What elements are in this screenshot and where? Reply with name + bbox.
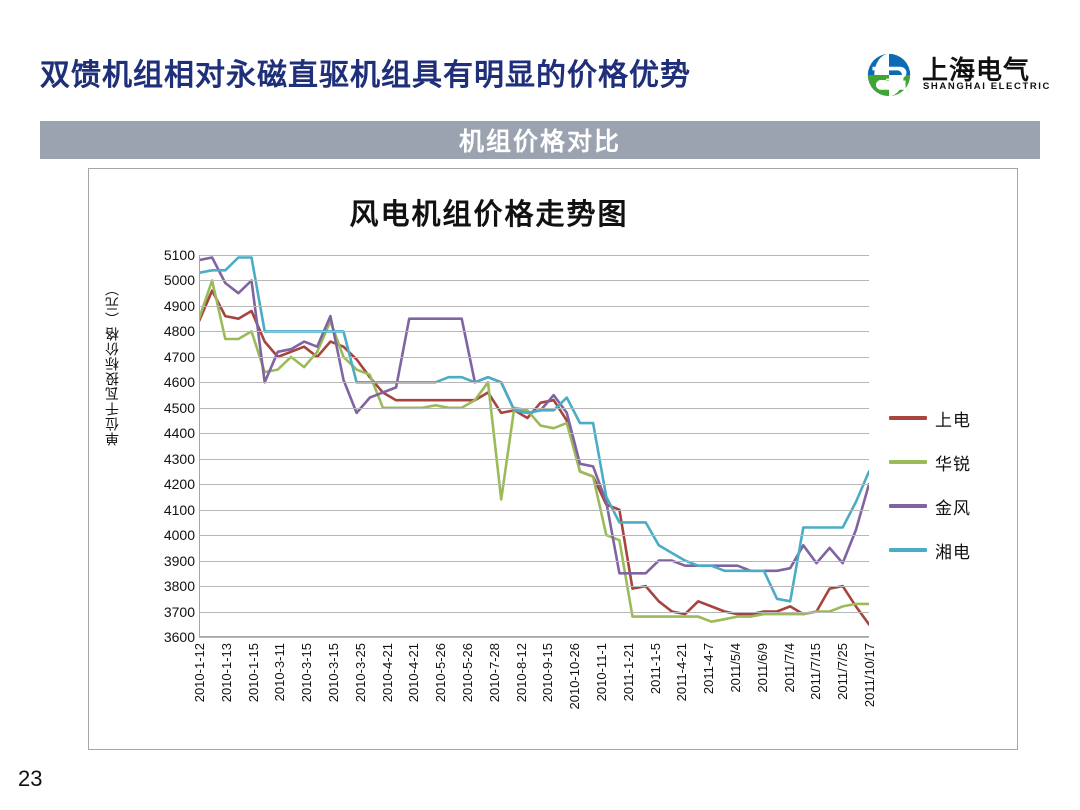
y-tick-label: 4900 (139, 299, 195, 313)
y-tick-label: 5000 (139, 273, 195, 287)
plot-area (199, 255, 869, 637)
chart-legend: 上电华锐金风湘电 (889, 407, 1007, 577)
logo-text-english: SHANGHAI ELECTRIC (923, 81, 1051, 92)
x-tick-label: 2010-11-1 (594, 643, 609, 701)
y-tick-label: 4100 (139, 503, 195, 517)
x-tick-label: 2010-4-21 (380, 643, 395, 702)
y-tick-label: 4700 (139, 350, 195, 364)
x-tick-label: 2011/7/4 (782, 643, 797, 693)
x-tick-label: 2011/7/25 (835, 643, 850, 700)
gridline (199, 637, 869, 638)
x-tick-label: 2010-8-12 (514, 643, 529, 702)
legend-swatch-icon (889, 416, 927, 420)
x-tick-label: 2010-3-25 (353, 643, 368, 702)
legend-swatch-icon (889, 504, 927, 508)
legend-item-label: 华锐 (935, 450, 971, 475)
x-tick-label: 2010-10-26 (567, 643, 582, 710)
x-tick-label: 2011-1-21 (621, 643, 636, 701)
legend-item[interactable]: 华锐 (889, 451, 1007, 473)
y-tick-label: 4800 (139, 324, 195, 338)
legend-item-label: 金风 (935, 494, 971, 519)
legend-swatch-icon (889, 548, 927, 552)
shanghai-electric-logo: 上海电气 SHANGHAI ELECTRIC (866, 50, 1056, 102)
x-tick-label: 2010-5-26 (433, 643, 448, 702)
chart-container: 风电机组价格走势图 单位千瓦投标价格（元） 510050004900480047… (88, 168, 1018, 750)
legend-item-label: 湘电 (935, 538, 971, 563)
section-banner-label: 机组价格对比 (459, 122, 621, 158)
section-banner: 机组价格对比 (40, 121, 1040, 159)
y-tick-label: 3600 (139, 630, 195, 644)
x-tick-label: 2011/10/17 (862, 643, 877, 707)
y-tick-label: 5100 (139, 248, 195, 262)
legend-item[interactable]: 上电 (889, 407, 1007, 429)
x-tick-label: 2010-3-15 (299, 643, 314, 702)
y-tick-label: 4400 (139, 426, 195, 440)
x-tick-label: 2010-5-26 (460, 643, 475, 702)
x-tick-label: 2010-9-15 (540, 643, 555, 702)
logo-mark-icon (866, 52, 912, 98)
y-tick-label: 3900 (139, 554, 195, 568)
plot-axes (199, 255, 869, 637)
x-tick-label: 2010-1-15 (246, 643, 261, 702)
legend-item[interactable]: 湘电 (889, 539, 1007, 561)
x-tick-label: 2010-3-11 (272, 643, 287, 701)
y-tick-label: 4600 (139, 375, 195, 389)
x-tick-label: 2011-4-7 (701, 643, 716, 694)
legend-item[interactable]: 金风 (889, 495, 1007, 517)
x-tick-label: 2011-1-5 (648, 643, 663, 694)
y-axis-ticks: 5100500049004800470046004500440043004200… (131, 255, 195, 637)
legend-item-label: 上电 (935, 406, 971, 431)
x-tick-label: 2011/7/15 (808, 643, 823, 700)
slide-header: 双馈机组相对永磁直驱机组具有明显的价格优势 上海电气 SHANGHAI ELEC… (0, 0, 1080, 112)
y-tick-label: 4500 (139, 401, 195, 415)
y-tick-label: 3800 (139, 579, 195, 593)
x-tick-label: 2011-4-21 (674, 643, 689, 701)
y-tick-label: 3700 (139, 605, 195, 619)
y-tick-label: 4300 (139, 452, 195, 466)
legend-swatch-icon (889, 460, 927, 464)
x-tick-label: 2011/5/4 (728, 643, 743, 693)
page-number: 23 (18, 766, 42, 792)
y-tick-label: 4000 (139, 528, 195, 542)
x-tick-label: 2010-7-28 (487, 643, 502, 702)
x-axis-ticks: 2010-1-122010-1-132010-1-152010-3-112010… (199, 643, 869, 763)
page-title: 双馈机组相对永磁直驱机组具有明显的价格优势 (40, 50, 840, 94)
x-tick-label: 2010-1-13 (219, 643, 234, 702)
x-tick-label: 2010-3-15 (326, 643, 341, 702)
x-tick-label: 2010-4-21 (406, 643, 421, 702)
chart-title: 风电机组价格走势图 (89, 191, 889, 233)
x-tick-label: 2010-1-12 (192, 643, 207, 702)
x-tick-label: 2011/6/9 (755, 643, 770, 693)
y-axis-label: 单位千瓦投标价格（元） (103, 281, 123, 446)
y-tick-label: 4200 (139, 477, 195, 491)
